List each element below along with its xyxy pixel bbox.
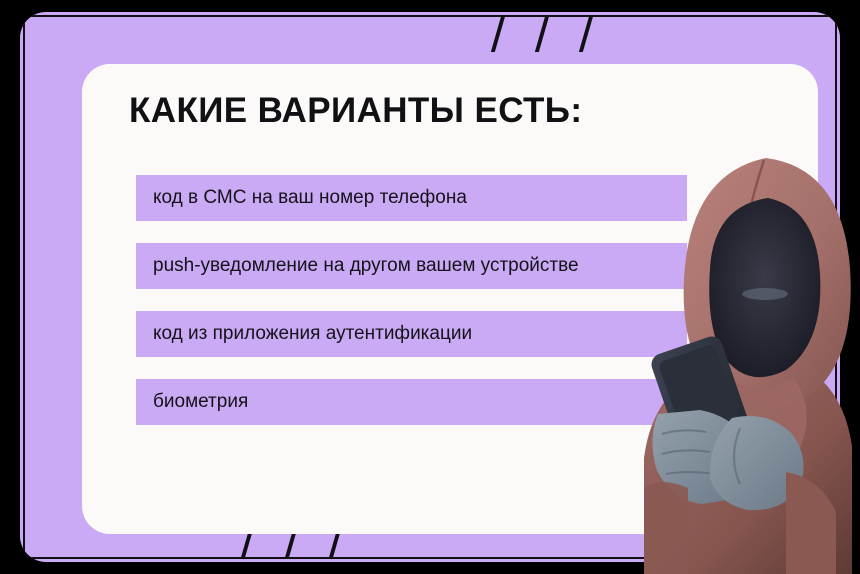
panel-hairline-bottom [20,557,840,559]
page-title: КАКИЕ ВАРИАНТЫ ЕСТЬ: [129,91,582,131]
option-label: push-уведомление на другом вашем устройс… [136,255,579,277]
option-label: код в СМС на ваш номер телефона [136,187,467,209]
stripe-icon [491,16,505,52]
list-item: код из приложения аутентификации [136,311,687,357]
list-item: биометрия [136,379,687,425]
option-label: биометрия [136,391,248,413]
panel-hairline-top [20,15,840,17]
list-item: push-уведомление на другом вашем устройс… [136,243,687,289]
panel-hairline-right [835,12,837,562]
stripe-icon [579,16,593,52]
slide-canvas: КАКИЕ ВАРИАНТЫ ЕСТЬ: код в СМС на ваш но… [0,0,860,574]
option-label: код из приложения аутентификации [136,323,472,345]
panel-hairline-left [23,12,25,562]
content-card: КАКИЕ ВАРИАНТЫ ЕСТЬ: код в СМС на ваш но… [82,64,818,534]
options-list: код в СМС на ваш номер телефона push-уве… [136,175,687,425]
list-item: код в СМС на ваш номер телефона [136,175,687,221]
purple-panel: КАКИЕ ВАРИАНТЫ ЕСТЬ: код в СМС на ваш но… [20,12,840,562]
stripe-icon [535,16,549,52]
diagonal-stripes-top [496,16,588,52]
